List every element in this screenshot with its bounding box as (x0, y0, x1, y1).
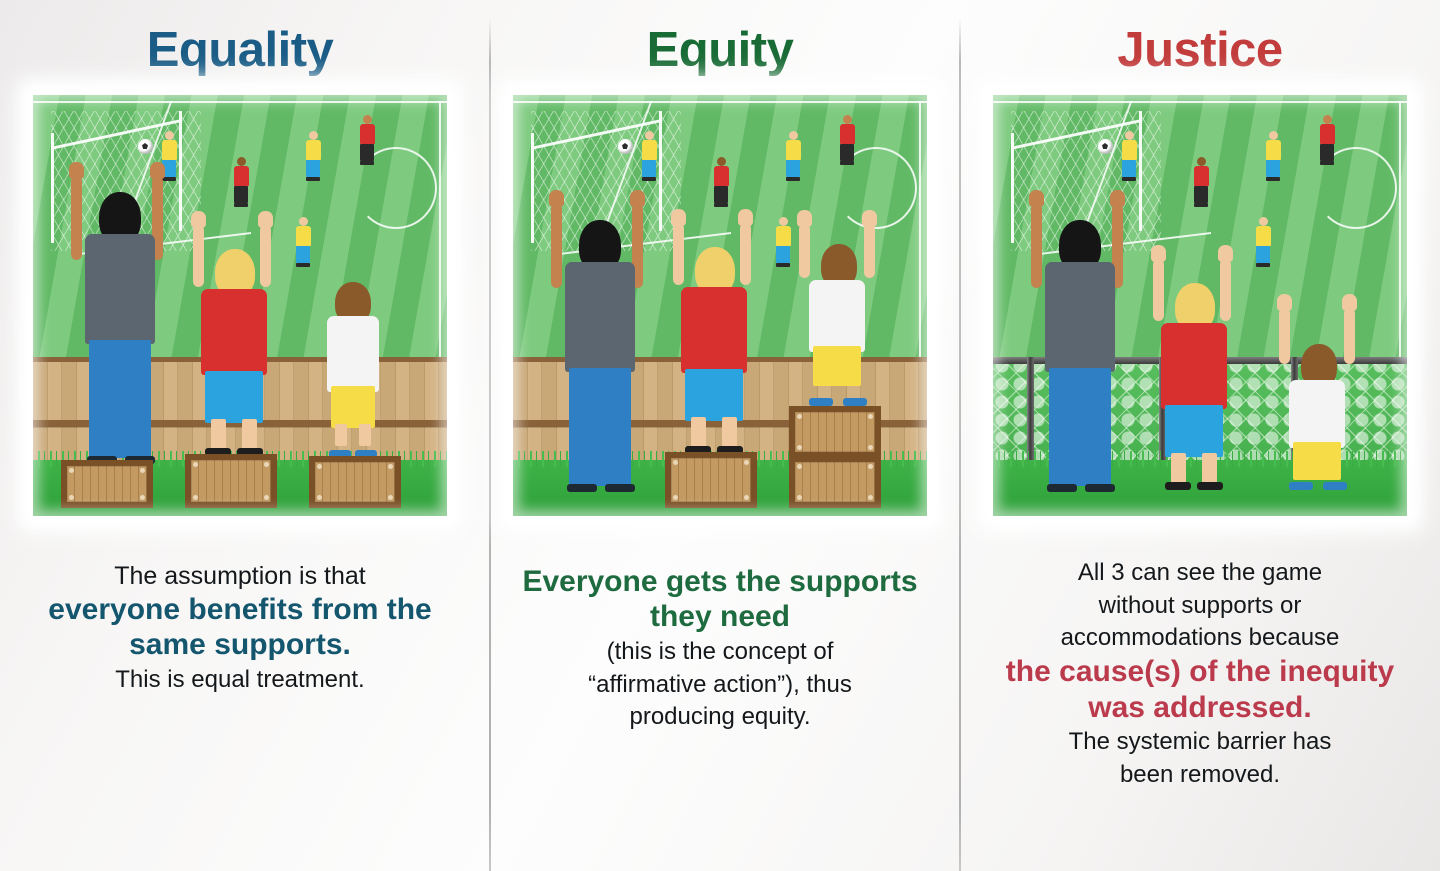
field-line-right (1399, 101, 1401, 361)
spectator-medium-teen (1149, 245, 1239, 490)
scene-equality (33, 95, 447, 516)
field-player-yellow-1 (785, 131, 801, 181)
field-player-defender-red (359, 115, 375, 165)
field-line-right (919, 101, 921, 361)
field-player-defender-red (1319, 115, 1335, 165)
caption-line-1: (this is the concept of (607, 638, 834, 665)
goal-post-right (1139, 111, 1142, 231)
scene-justice (993, 95, 1407, 516)
shirt-red (681, 287, 747, 373)
shoe-right (1197, 482, 1223, 490)
field-player-striker-red (1193, 157, 1209, 207)
field-player-defender-red (839, 115, 855, 165)
field-line-top (33, 101, 447, 103)
spectator-medium-teen (669, 209, 759, 454)
field-player-yellow-1 (1265, 131, 1281, 181)
shirt-gray (565, 262, 635, 372)
shirt-gray (85, 234, 155, 344)
caption-line-5: been removed. (1120, 761, 1280, 788)
crate-medium-1 (665, 452, 757, 508)
shorts-blue (1165, 405, 1223, 457)
panel-equity: Equity (480, 0, 960, 871)
panel-justice: Justice (960, 0, 1440, 871)
field-line-top (993, 101, 1407, 103)
caption-line-2: “affirmative action”), thus (588, 671, 852, 698)
shoe-left (809, 398, 833, 406)
caption-line-3: producing equity. (629, 703, 810, 730)
caption-justice: All 3 can see the game without supports … (985, 556, 1415, 790)
shoe-left (1289, 482, 1313, 490)
shirt-white (1289, 380, 1345, 448)
crate-small-1 (309, 456, 401, 508)
shirt-gray (1045, 262, 1115, 372)
field-player-goalkeeper (1121, 131, 1137, 181)
shirt-white (809, 280, 865, 352)
caption-equality: The assumption is that everyone benefits… (25, 560, 455, 696)
caption-line-2: without supports or (1099, 592, 1302, 619)
goal-post-right (659, 111, 662, 231)
panel-title-justice: Justice (1117, 0, 1282, 75)
shirt-red (201, 289, 267, 375)
pants-blue (89, 340, 151, 458)
field-line-top (513, 101, 927, 103)
crate-small-1 (789, 456, 881, 508)
spectator-small-child (1275, 294, 1361, 490)
caption-line-3: accommodations because (1061, 624, 1340, 651)
spectator-tall-adult (1029, 190, 1133, 492)
shoe-left (1047, 484, 1077, 492)
caption-emphasis: everyone benefits from the same supports… (25, 592, 455, 663)
caption-emphasis: Everyone gets the supports they need (505, 564, 935, 635)
caption-line-1: All 3 can see the game (1078, 559, 1322, 586)
field-player-goalkeeper (641, 131, 657, 181)
field-player-yellow-1 (305, 131, 321, 181)
field-player-striker-red (713, 157, 729, 207)
caption-line-2: This is equal treatment. (115, 666, 364, 693)
field-player-yellow-2 (1255, 217, 1271, 267)
caption-line-1: The assumption is that (114, 562, 366, 590)
shoe-right (1323, 482, 1347, 490)
pants-blue (569, 368, 631, 486)
crate-medium-1 (185, 454, 277, 508)
panel-title-equality: Equality (147, 0, 334, 75)
spectator-small-child (795, 210, 881, 406)
goal-post-right (179, 111, 182, 231)
field-player-yellow-2 (775, 217, 791, 267)
soccer-ball (1098, 139, 1113, 154)
field-player-striker-red (233, 157, 249, 207)
caption-equity: Everyone gets the supports they need (th… (505, 564, 935, 733)
crate-tall-1 (61, 460, 153, 508)
shoe-left (1165, 482, 1191, 490)
panel-equality: Equality (0, 0, 480, 871)
scene-equity (513, 95, 927, 516)
shirt-white (327, 316, 379, 392)
shoe-right (605, 484, 635, 492)
shorts-blue (205, 371, 263, 423)
pants-blue (1049, 368, 1111, 486)
soccer-ball (138, 139, 153, 154)
caption-line-4: The systemic barrier has (1069, 728, 1332, 755)
field-line-right (439, 101, 441, 361)
shoe-right (843, 398, 867, 406)
spectator-tall-adult (549, 190, 653, 492)
spectator-medium-teen (189, 211, 279, 456)
shoe-right (1085, 484, 1115, 492)
shorts-blue (685, 369, 743, 421)
shorts-yellow (331, 386, 375, 428)
crate-small-2 (789, 406, 881, 458)
soccer-ball (618, 139, 633, 154)
caption-emphasis: the cause(s) of the inequity was address… (985, 654, 1415, 725)
shirt-red (1161, 323, 1227, 409)
infographic-board: Equality (0, 0, 1440, 871)
field-player-yellow-2 (295, 217, 311, 267)
panel-title-equity: Equity (647, 0, 794, 75)
shoe-left (567, 484, 597, 492)
spectator-small-child (317, 282, 389, 458)
shorts-yellow (813, 346, 861, 386)
shorts-yellow (1293, 442, 1341, 480)
spectator-tall-adult (69, 162, 173, 464)
